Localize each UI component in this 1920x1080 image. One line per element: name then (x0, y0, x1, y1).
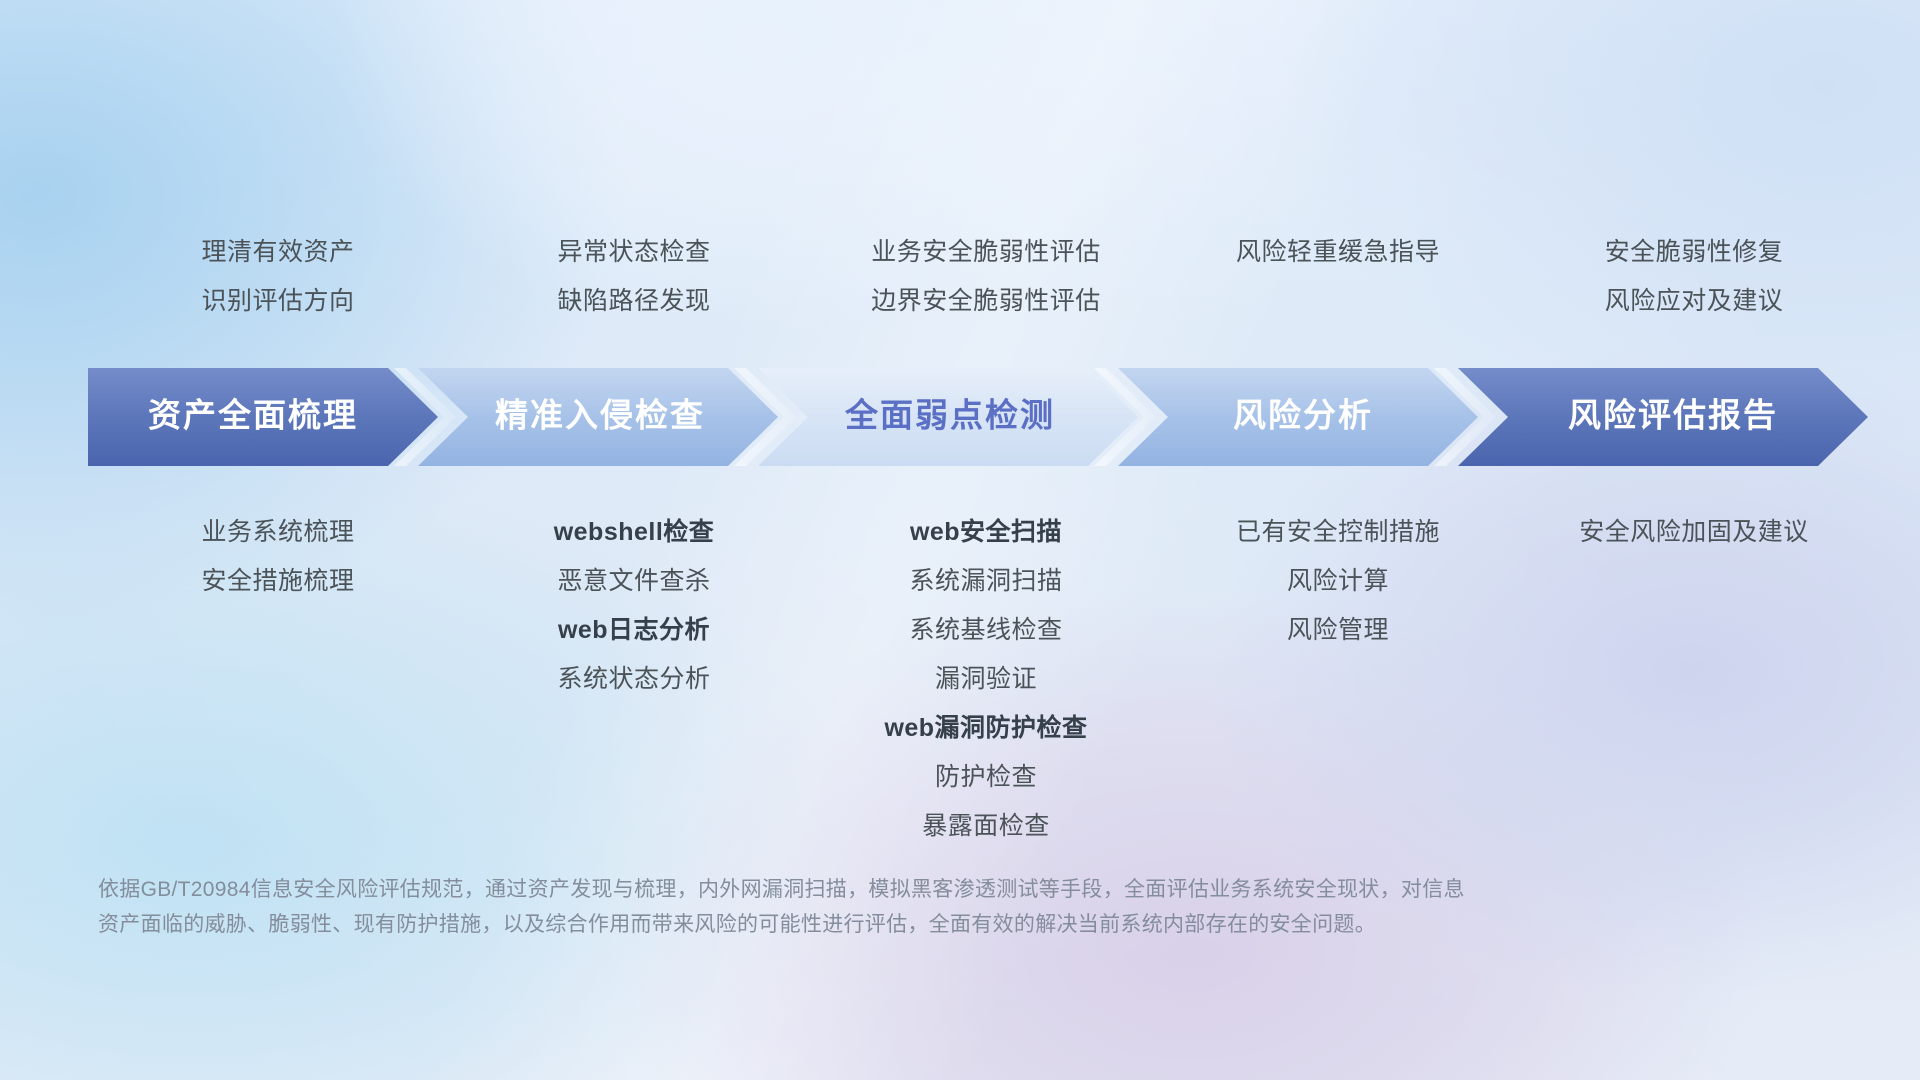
caption-text: 业务安全脆弱性评估 (871, 228, 1101, 277)
caption-text: webshell检查 (554, 508, 715, 557)
caption-text: 安全措施梳理 (201, 557, 354, 606)
upper-captions-step-5: 安全脆弱性修复 风险应对及建议 (1518, 228, 1870, 326)
footer-description: 依据GB/T20984信息安全风险评估规范，通过资产发现与梳理，内外网漏洞扫描，… (98, 872, 1738, 942)
arrow-step-5[interactable]: 风险评估报告 (1458, 368, 1868, 466)
arrow-step-4-label: 风险分析 (1233, 397, 1373, 434)
caption-text: 防护检查 (935, 753, 1037, 802)
lower-caption-grid: 业务系统梳理 安全措施梳理 webshell检查 恶意文件查杀 web日志分析 … (96, 508, 1856, 851)
arrow-step-3[interactable]: 全面弱点检测 (758, 368, 1138, 466)
caption-text: 恶意文件查杀 (557, 557, 710, 606)
caption-text: 安全脆弱性修复 (1605, 228, 1784, 277)
footer-line-1: 依据GB/T20984信息安全风险评估规范，通过资产发现与梳理，内外网漏洞扫描，… (98, 872, 1738, 907)
caption-text: 缺陷路径发现 (557, 277, 710, 326)
caption-text: 风险轻重缓急指导 (1236, 228, 1440, 277)
footer-line-2: 资产面临的威胁、脆弱性、现有防护措施，以及综合作用而带来风险的可能性进行评估，全… (98, 907, 1738, 942)
caption-text: web日志分析 (558, 606, 710, 655)
arrow-step-1-label: 资产全面梳理 (148, 397, 358, 434)
caption-text: web漏洞防护检查 (884, 704, 1087, 753)
arrow-step-2[interactable]: 精准入侵检查 (418, 368, 778, 466)
arrow-step-5-label: 风险评估报告 (1568, 397, 1778, 434)
arrow-step-4[interactable]: 风险分析 (1118, 368, 1478, 466)
upper-caption-grid: 理清有效资产 识别评估方向 异常状态检查 缺陷路径发现 业务安全脆弱性评估 边界… (96, 228, 1856, 326)
lower-captions-step-2: webshell检查 恶意文件查杀 web日志分析 系统状态分析 (458, 508, 810, 704)
arrow-step-2-label: 精准入侵检查 (495, 397, 705, 434)
arrow-band-svg: 资产全面梳理 精准入侵检查 (88, 368, 1868, 466)
upper-captions-step-1: 理清有效资产 识别评估方向 (102, 228, 454, 326)
lower-captions-step-5: 安全风险加固及建议 (1518, 508, 1870, 557)
caption-text: 暴露面检查 (922, 802, 1050, 851)
caption-text: 安全风险加固及建议 (1579, 508, 1809, 557)
lower-captions-step-3: web安全扫描 系统漏洞扫描 系统基线检查 漏洞验证 web漏洞防护检查 防护检… (810, 508, 1162, 851)
caption-text: 系统基线检查 (909, 606, 1062, 655)
process-arrow-band: 资产全面梳理 精准入侵检查 (88, 368, 1868, 466)
caption-text: 已有安全控制措施 (1236, 508, 1440, 557)
caption-text: 系统状态分析 (557, 655, 710, 704)
caption-text: 业务系统梳理 (201, 508, 354, 557)
arrow-step-3-label: 全面弱点检测 (844, 397, 1055, 434)
upper-captions-step-2: 异常状态检查 缺陷路径发现 (458, 228, 810, 326)
caption-text: 风险计算 (1287, 557, 1389, 606)
caption-text: 系统漏洞扫描 (909, 557, 1062, 606)
arrow-step-1[interactable]: 资产全面梳理 (88, 368, 438, 466)
caption-text: 风险管理 (1287, 606, 1389, 655)
caption-text: 理清有效资产 (201, 228, 354, 277)
caption-text: 风险应对及建议 (1605, 277, 1784, 326)
caption-text: web安全扫描 (910, 508, 1062, 557)
caption-text: 识别评估方向 (201, 277, 354, 326)
upper-captions-step-3: 业务安全脆弱性评估 边界安全脆弱性评估 (810, 228, 1162, 326)
caption-text: 异常状态检查 (557, 228, 710, 277)
lower-captions-step-1: 业务系统梳理 安全措施梳理 (102, 508, 454, 606)
upper-captions-step-4: 风险轻重缓急指导 (1162, 228, 1514, 326)
caption-text: 漏洞验证 (935, 655, 1037, 704)
caption-text: 边界安全脆弱性评估 (871, 277, 1101, 326)
lower-captions-step-4: 已有安全控制措施 风险计算 风险管理 (1162, 508, 1514, 655)
slide-canvas: 理清有效资产 识别评估方向 异常状态检查 缺陷路径发现 业务安全脆弱性评估 边界… (0, 0, 1920, 1080)
